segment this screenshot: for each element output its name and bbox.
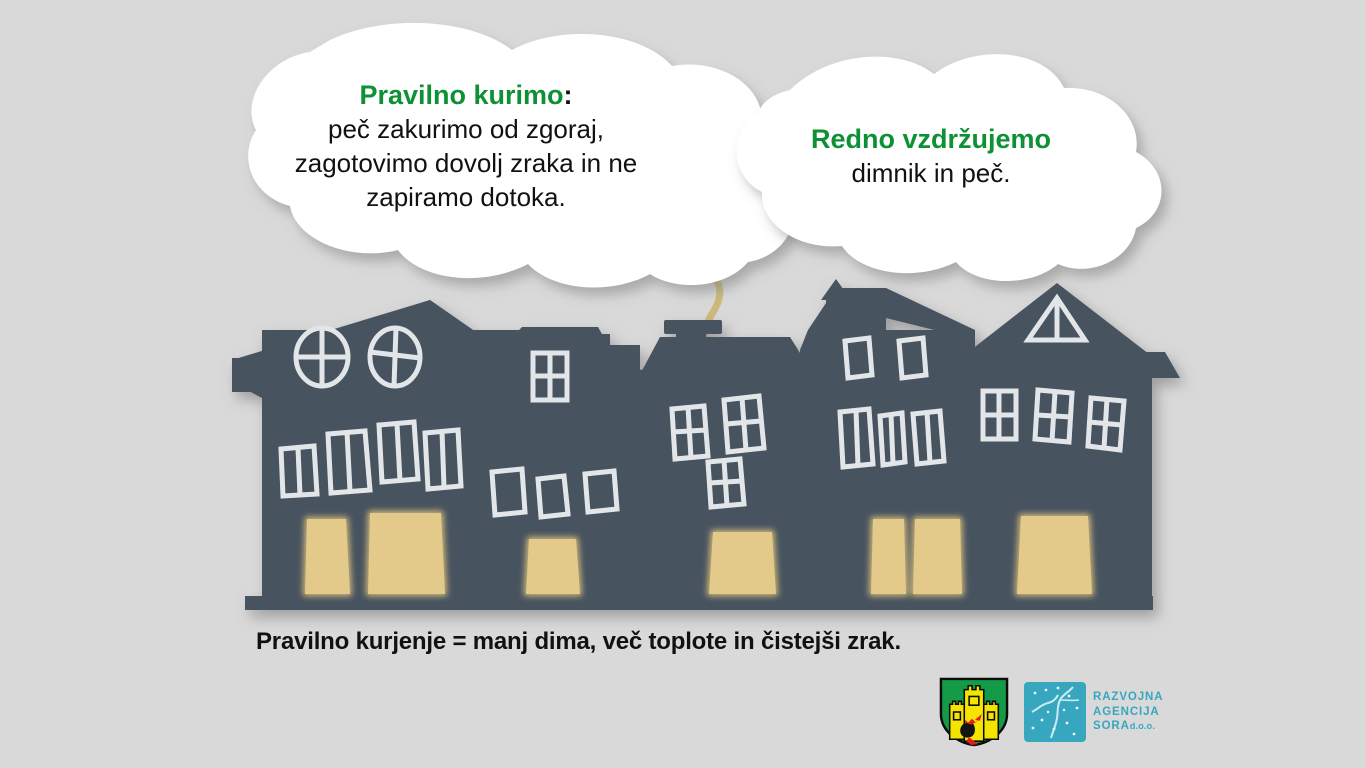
door-7	[1017, 516, 1092, 594]
logos-row: RAZVOJNA AGENCIJA SORAd.o.o.	[938, 676, 1164, 748]
sora-logo-line-3: SORAd.o.o.	[1093, 719, 1163, 734]
sora-logo-line-3-suffix: d.o.o.	[1130, 721, 1155, 731]
sora-logo-line-2: AGENCIJA	[1093, 705, 1163, 720]
door-1	[305, 519, 350, 594]
door-2	[368, 513, 445, 594]
sora-logo-text: RAZVOJNA AGENCIJA SORAd.o.o.	[1093, 690, 1163, 734]
caption-text: Pravilno kurjenje = manj dima, več toplo…	[256, 628, 901, 656]
sora-logo-line-1: RAZVOJNA	[1093, 690, 1163, 705]
door-6	[913, 519, 962, 594]
sora-logo-line-3-main: SORA	[1093, 720, 1130, 732]
skofja-loka-coat-of-arms-icon	[938, 677, 1010, 747]
door-3	[526, 539, 580, 594]
door-4	[709, 532, 776, 594]
sora-river-map-icon	[1024, 682, 1086, 742]
ground-strip	[245, 596, 1153, 610]
razvojna-agencija-sora-logo: RAZVOJNA AGENCIJA SORAd.o.o.	[1024, 682, 1163, 742]
door-5	[871, 519, 906, 594]
chimney-stack	[678, 326, 704, 360]
right-house-roof-extension	[948, 352, 1180, 378]
round-window-left	[296, 328, 348, 386]
poster-canvas: Pravilno kurimo: peč zakurimo od zgoraj,…	[0, 0, 1366, 768]
